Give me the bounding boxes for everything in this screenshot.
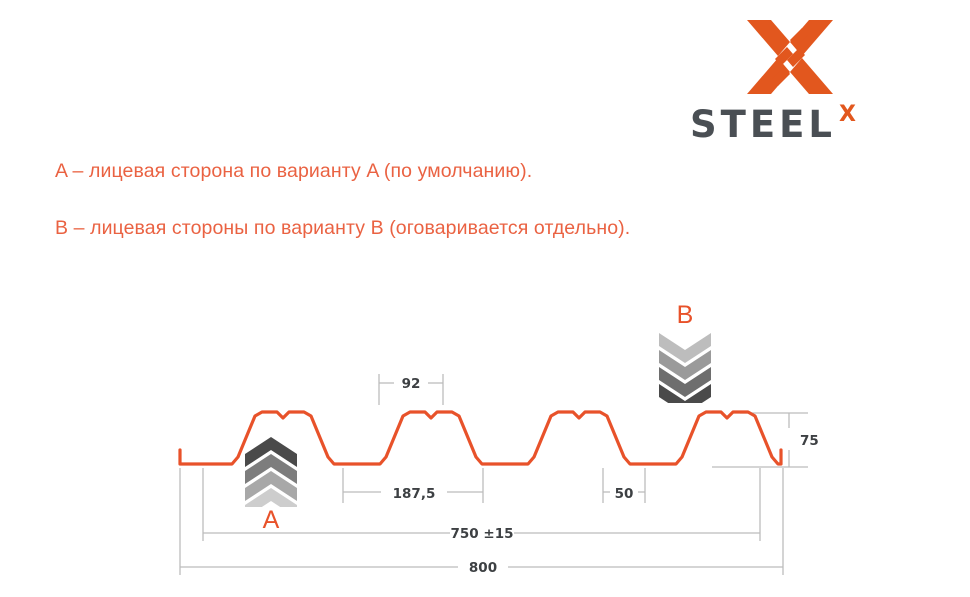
marker-b-chevrons (657, 333, 713, 408)
chevron-down-stack (659, 333, 711, 403)
marker-b-label: B (657, 303, 713, 328)
dim-label-92: 92 (402, 376, 421, 392)
dim-label-800: 800 (469, 560, 497, 576)
dimension-labels: 92 187,5 50 75 750 ±15 800 (393, 376, 819, 576)
dim-label-50: 50 (615, 486, 634, 502)
dim-label-187-5: 187,5 (393, 486, 436, 502)
marker-a-label: A (243, 508, 299, 533)
dim-label-75: 75 (800, 433, 819, 449)
marker-a-chevrons (243, 437, 299, 512)
chevron-up-stack (245, 437, 297, 507)
profile-technical-drawing: 92 187,5 50 75 750 ±15 800 (0, 0, 970, 597)
dim-label-750: 750 ±15 (451, 526, 514, 542)
